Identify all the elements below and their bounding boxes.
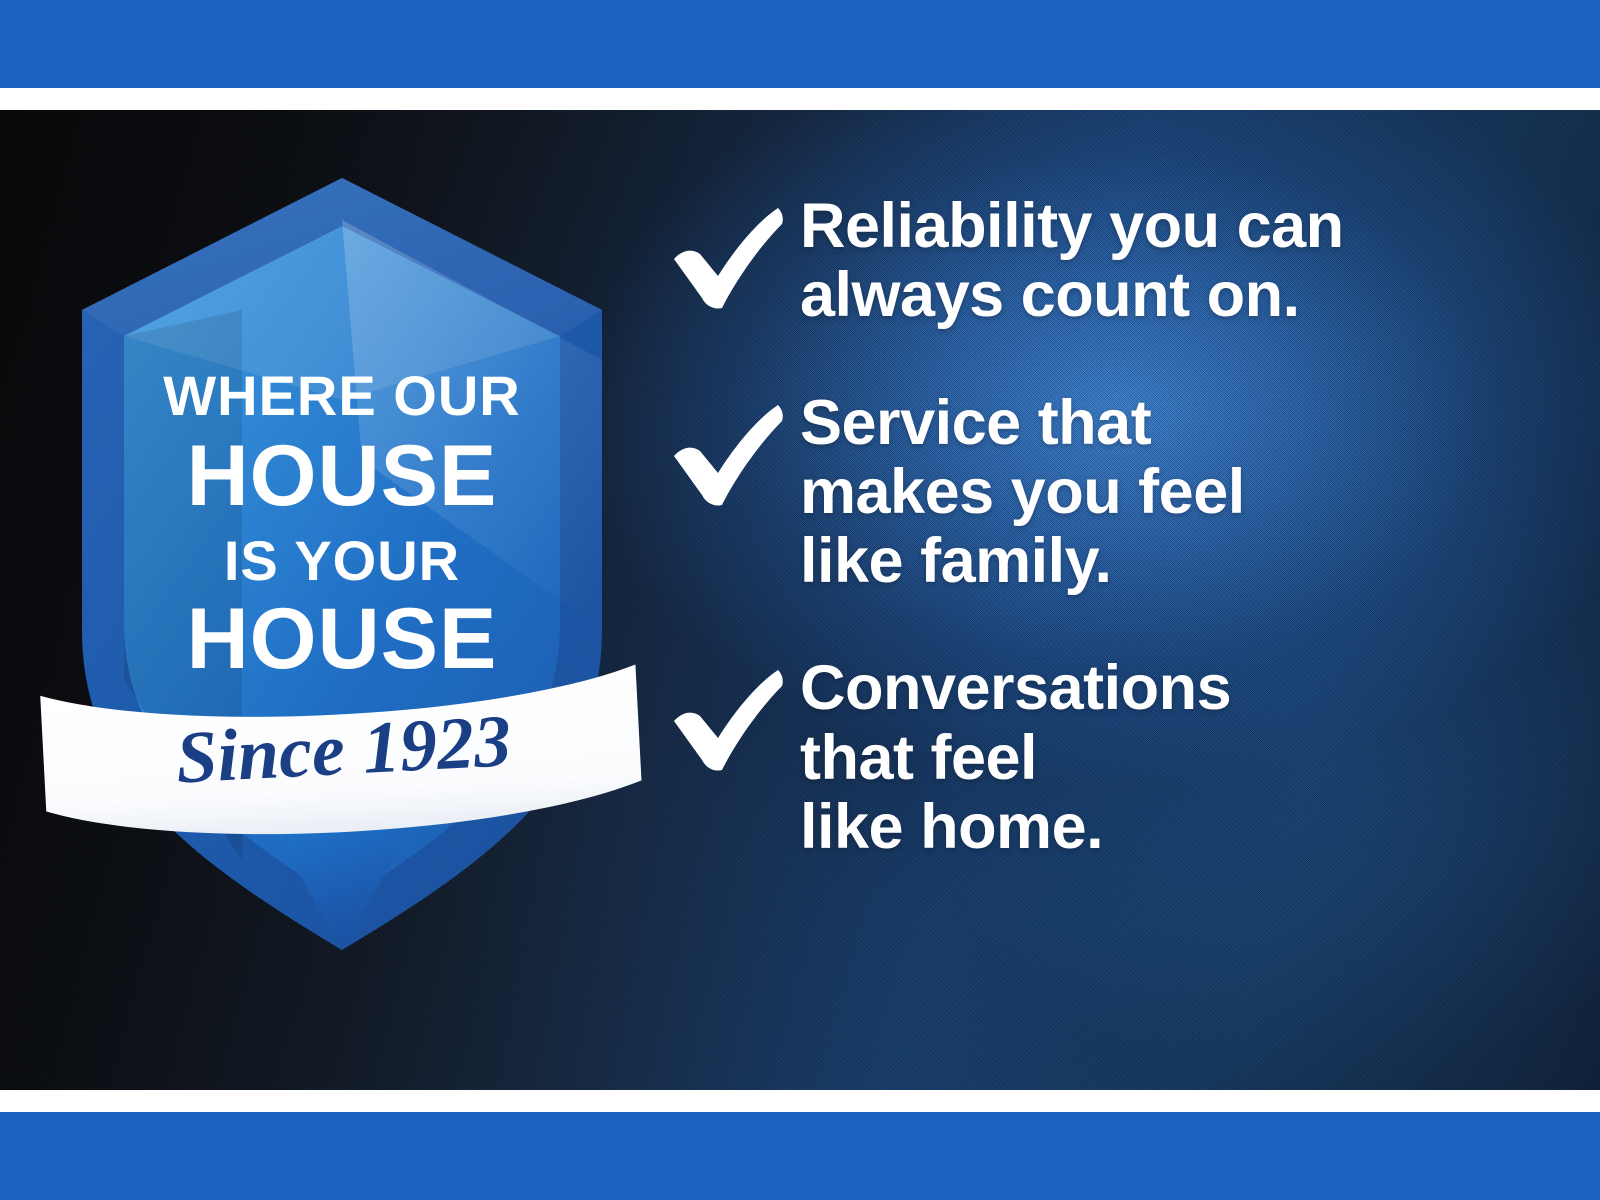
ribbon-since-text: Since 1923	[174, 700, 513, 799]
promo-graphic: WHERE OUR HOUSE IS YOUR HOUSE Since 1923…	[0, 0, 1600, 1200]
shield-line-1: WHERE OUR	[163, 364, 520, 427]
value-proposition-list: Reliability you can always count on. Ser…	[668, 190, 1568, 862]
list-item: Reliability you can always count on.	[668, 190, 1568, 331]
shield-line-4: HOUSE	[187, 591, 498, 687]
list-item: Conversations that feel like home.	[668, 652, 1568, 862]
list-item-text: Reliability you can always count on.	[800, 190, 1568, 331]
checkmark-icon	[668, 652, 800, 774]
shield-line-2: HOUSE	[187, 428, 498, 524]
checkmark-icon	[668, 190, 800, 312]
shield-badge: WHERE OUR HOUSE IS YOUR HOUSE Since 1923	[62, 160, 622, 960]
checkmark-icon	[668, 387, 800, 509]
list-item-text: Conversations that feel like home.	[800, 652, 1568, 862]
top-white-rule	[0, 88, 1600, 110]
list-item-text: Service that makes you feel like family.	[800, 387, 1568, 597]
bottom-white-rule	[0, 1090, 1600, 1112]
bottom-brand-bar	[0, 1112, 1600, 1200]
list-item: Service that makes you feel like family.	[668, 387, 1568, 597]
shield-line-3: IS YOUR	[224, 529, 460, 592]
top-brand-bar	[0, 0, 1600, 88]
